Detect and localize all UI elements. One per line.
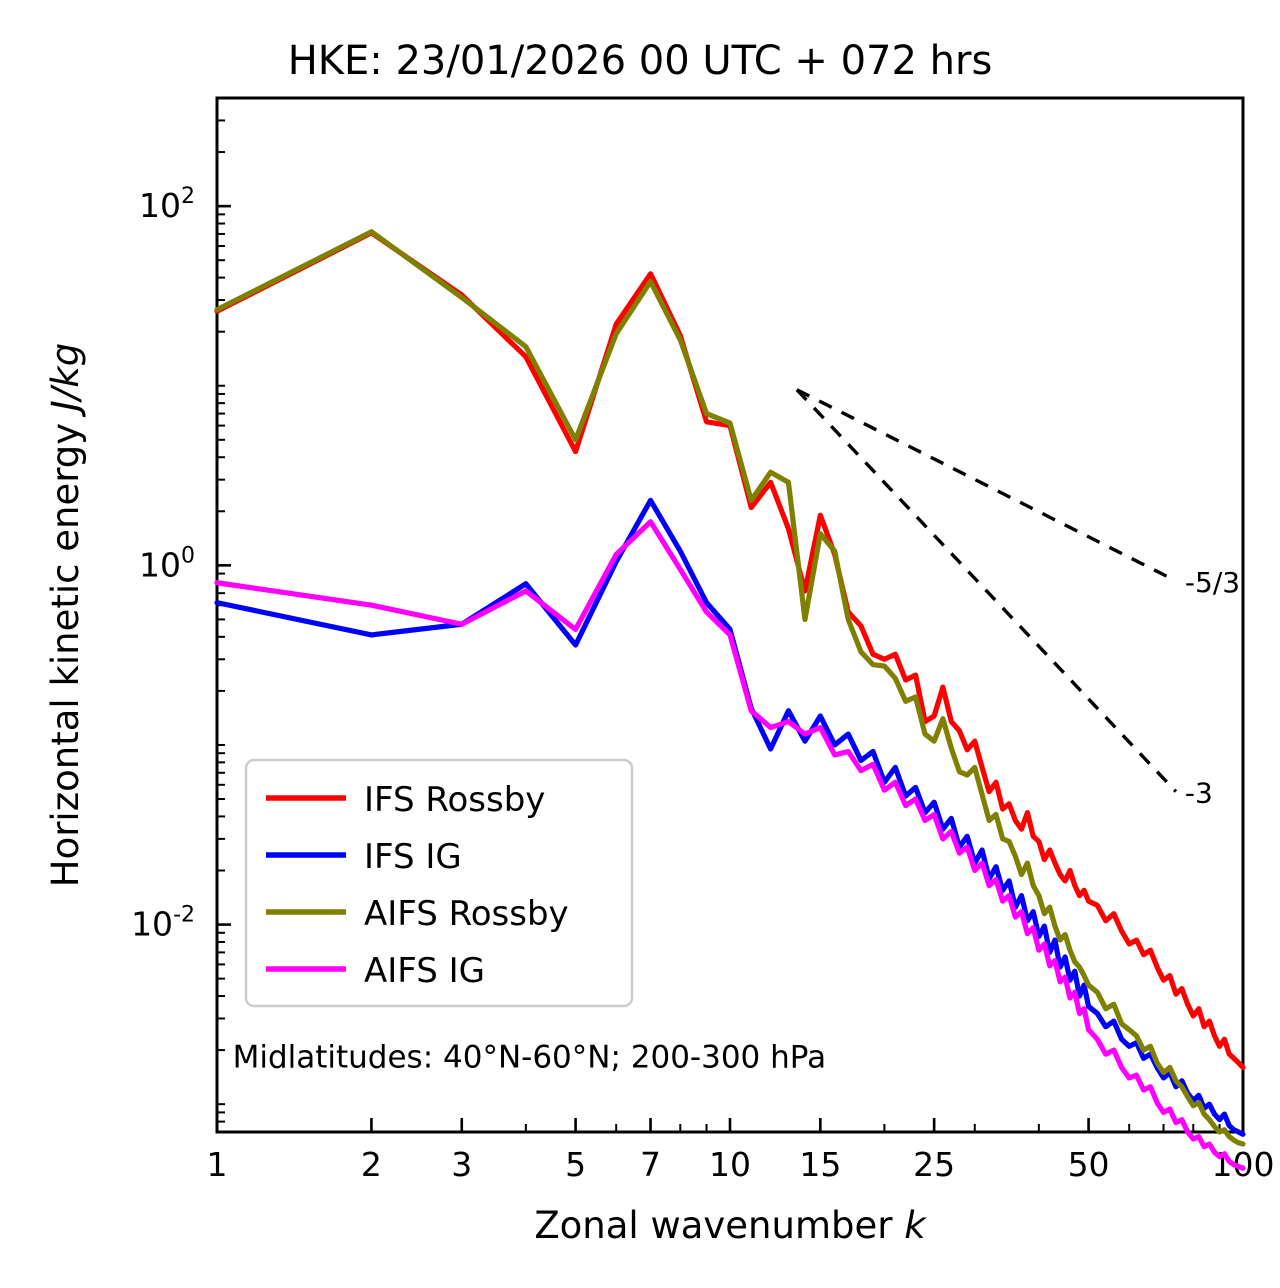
x-tick-label: 50 [1068,1145,1110,1184]
spectrum-plot: 123571015255010010210010-2-5/3-3Midlatit… [0,0,1280,1288]
y-tick-label: 102 [139,184,195,225]
x-tick-label: 10 [709,1145,751,1184]
x-tick-label: 100 [1212,1145,1275,1184]
reference-line-label: -3 [1185,777,1213,810]
chart-page: HKE: 23/01/2026 00 UTC + 072 hrs 1235710… [0,0,1280,1288]
x-tick-label: 7 [640,1145,661,1184]
legend-label-3[interactable]: AIFS IG [364,951,485,991]
y-axis-label: Horizontal kinetic energy J/kg [44,343,87,887]
reference-line-label: -5/3 [1185,566,1240,599]
y-tick-label: 10-2 [131,903,195,944]
x-tick-label: 15 [799,1145,841,1184]
x-axis-label: Zonal wavenumber k [534,1204,927,1247]
legend-label-2[interactable]: AIFS Rossby [364,894,569,934]
x-tick-label: 5 [565,1145,586,1184]
legend-label-0[interactable]: IFS Rossby [364,780,545,820]
reference-line-53 [797,390,1176,581]
x-tick-label: 2 [361,1145,382,1184]
x-tick-label: 25 [913,1145,955,1184]
x-tick-label: 3 [451,1145,472,1184]
legend-label-1[interactable]: IFS IG [364,837,462,877]
x-tick-label: 1 [207,1145,228,1184]
annotation-text: Midlatitudes: 40°N-60°N; 200-300 hPa [233,1040,827,1076]
reference-line-3 [797,390,1176,792]
y-tick-label: 100 [139,543,195,584]
